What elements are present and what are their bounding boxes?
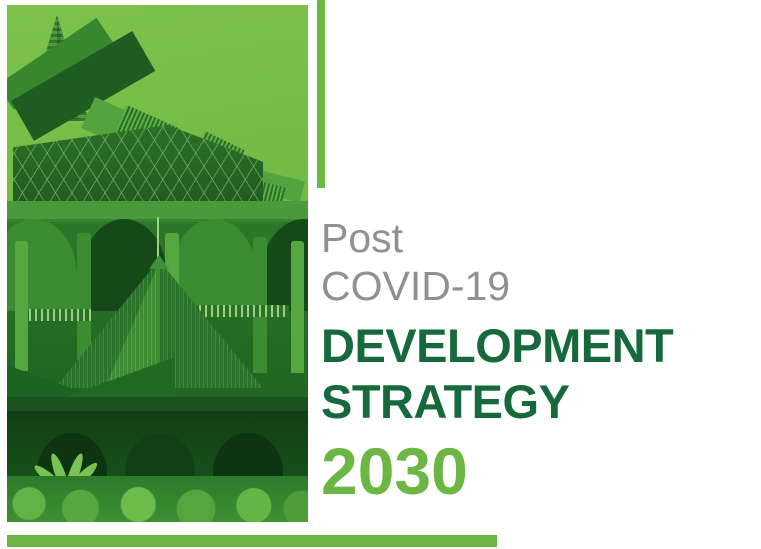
photo-skirt-roof-band — [7, 397, 308, 411]
report-cover-page: Post COVID-19 DEVELOPMENT STRATEGY 2030 — [0, 0, 761, 549]
title-line-development: DEVELOPMENT — [321, 318, 741, 374]
title-line-post: Post — [321, 214, 741, 262]
photo-hedge — [7, 476, 308, 522]
photo-column-1 — [15, 241, 28, 371]
photo-column-5 — [291, 241, 304, 373]
horizontal-accent-bar — [7, 535, 497, 547]
cover-photo — [7, 5, 308, 522]
cover-title-block: Post COVID-19 DEVELOPMENT STRATEGY 2030 — [321, 214, 741, 506]
photo-spire-cap — [149, 255, 169, 269]
vertical-accent-bar — [317, 0, 325, 188]
title-line-year: 2030 — [321, 436, 741, 506]
title-line-strategy: STRATEGY — [321, 374, 741, 430]
title-line-covid: COVID-19 — [321, 262, 741, 310]
